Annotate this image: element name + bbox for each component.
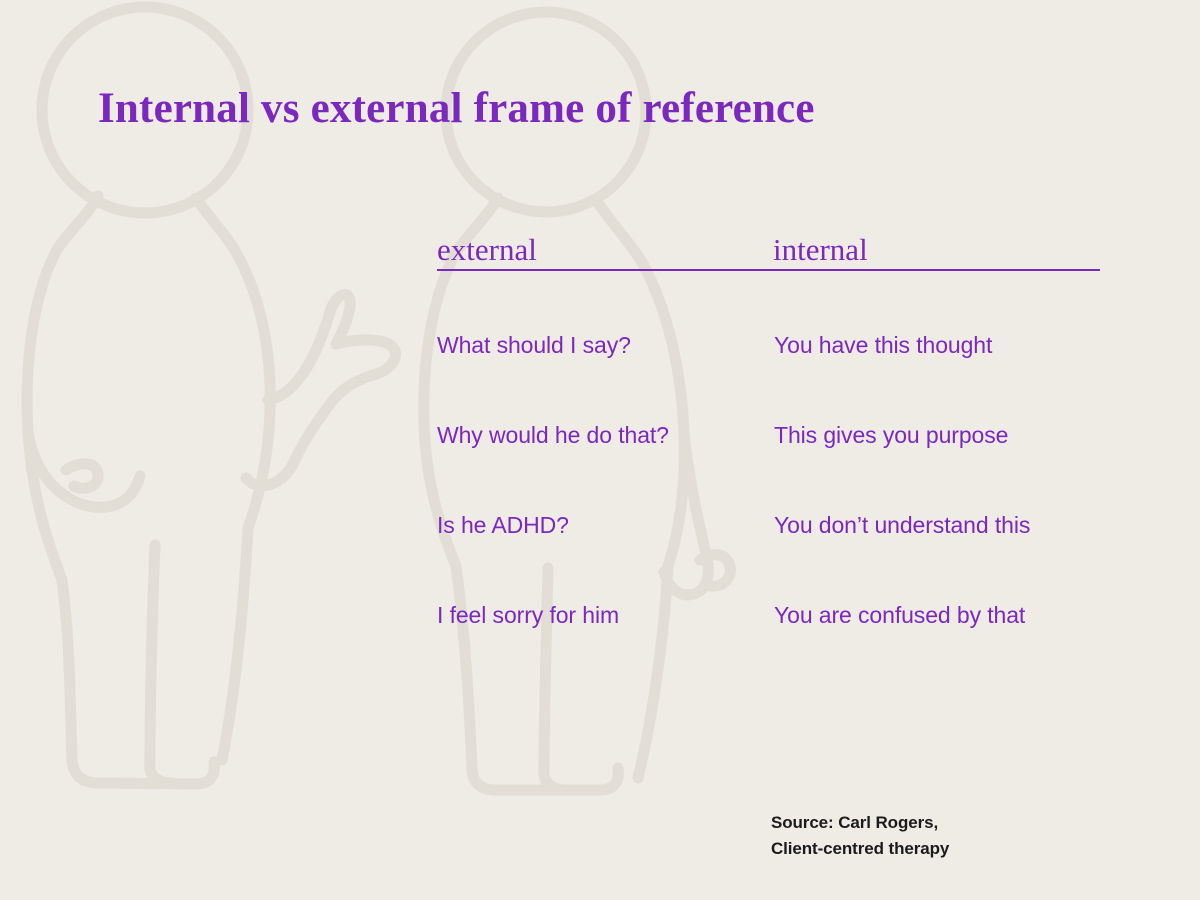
table-row: Is he ADHD?	[437, 512, 569, 539]
column-header-internal: internal	[773, 232, 868, 268]
table-row: This gives you purpose	[774, 422, 1008, 449]
table-row: What should I say?	[437, 332, 631, 359]
table-row: You don’t understand this	[774, 512, 1030, 539]
source-citation: Source: Carl Rogers, Client-centred ther…	[771, 810, 949, 862]
table-row: You have this thought	[774, 332, 992, 359]
table-row: Why would he do that?	[437, 422, 669, 449]
table-row: You are confused by that	[774, 602, 1025, 629]
slide-canvas: Internal vs external frame of reference …	[0, 0, 1200, 900]
header-divider	[437, 269, 1100, 271]
page-title: Internal vs external frame of reference	[98, 84, 815, 133]
source-line-1: Source: Carl Rogers,	[771, 810, 949, 836]
source-line-2: Client-centred therapy	[771, 836, 949, 862]
background-figures-illustration	[0, 0, 1200, 900]
table-row: I feel sorry for him	[437, 602, 619, 629]
column-header-external: external	[437, 232, 537, 268]
